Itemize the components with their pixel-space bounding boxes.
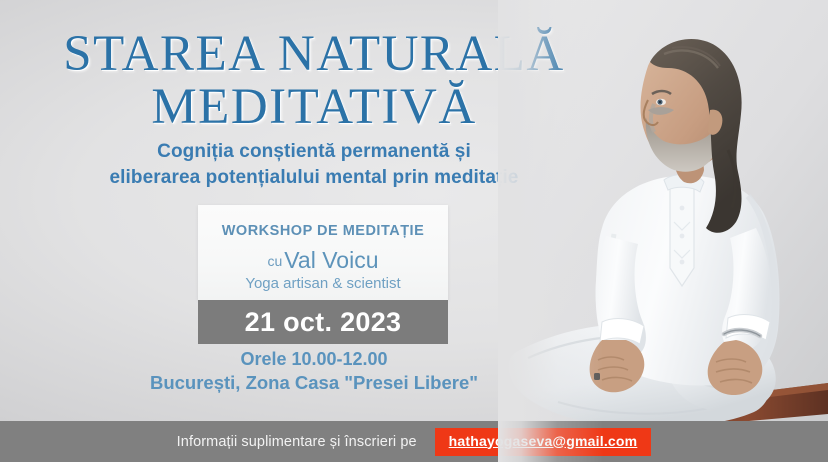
presenter-name: Val Voicu [284, 247, 378, 273]
presenter-prefix: cu [268, 253, 283, 269]
workshop-kicker: WORKSHOP DE MEDITAȚIE [198, 223, 448, 239]
subtitle-line-2: eliberarea potențialului mental prin med… [0, 165, 628, 191]
event-details: Orele 10.00-12.00 București, Zona Casa "… [0, 348, 628, 394]
date-text: 21 oct. 2023 [245, 307, 402, 338]
page-title: STAREA NATURALĂ MEDITATIVĂ [0, 29, 628, 133]
workshop-card: WORKSHOP DE MEDITAȚIE cuVal Voicu Yoga a… [198, 205, 448, 300]
footer-info-text: Informații suplimentare și înscrieri pe [177, 434, 417, 450]
poster-content: STAREA NATURALĂ MEDITATIVĂ Cogniția conș… [0, 0, 628, 462]
presenter-line: cuVal Voicu [198, 248, 448, 274]
date-badge: 21 oct. 2023 [198, 300, 448, 344]
email-button[interactable]: hathayogaseva@gmail.com [435, 428, 652, 456]
subtitle: Cogniția conștientă permanentă și eliber… [0, 139, 628, 191]
footer-bar: Informații suplimentare și înscrieri pe … [0, 421, 828, 462]
presenter-role: Yoga artisan & scientist [198, 275, 448, 292]
subtitle-line-1: Cogniția conștientă permanentă și [157, 141, 471, 162]
poster-canvas: STAREA NATURALĂ MEDITATIVĂ Cogniția conș… [0, 0, 828, 462]
event-location: București, Zona Casa "Presei Libere" [0, 371, 628, 394]
title-line-2: MEDITATIVĂ [0, 82, 628, 133]
title-line-1: STAREA NATURALĂ [63, 26, 565, 82]
event-time: Orele 10.00-12.00 [240, 349, 387, 369]
